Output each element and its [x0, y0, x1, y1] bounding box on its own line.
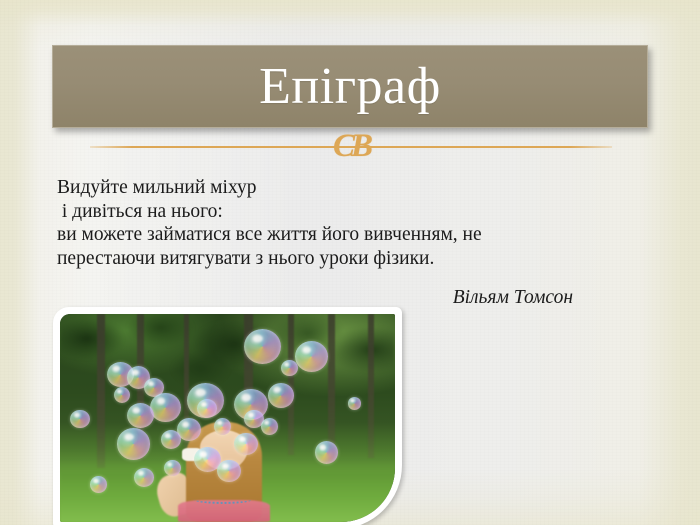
photo-tree-trunk: [328, 314, 335, 462]
photo-bubble: [134, 468, 154, 487]
slide: Епіграф CB Видуйте мильний міхур і дивіт…: [0, 0, 700, 525]
ornament-divider: CB: [90, 139, 612, 173]
photo-tree-trunk: [97, 314, 105, 468]
photo-bubble: [214, 418, 231, 435]
photo-bubble: [244, 329, 281, 364]
photo-bubble: [268, 383, 295, 408]
title-bar: Епіграф: [52, 45, 648, 128]
photo-bubble: [348, 397, 361, 409]
photo-bubble: [261, 418, 278, 435]
photo-bubble: [161, 430, 181, 449]
body-line: перестаючи витягувати з нього уроки фізи…: [57, 247, 637, 271]
photo-bubble: [217, 460, 240, 483]
photo-bubble: [177, 418, 200, 441]
photo-frame: [53, 307, 402, 525]
photo-bubble: [117, 428, 151, 459]
quote-attribution: Вільям Томсон: [57, 286, 573, 309]
body-line: Видуйте мильний міхур: [57, 176, 637, 200]
photo-bubble: [234, 433, 257, 456]
photo-bubble: [150, 393, 180, 422]
body-line: і дивіться на нього:: [57, 200, 637, 224]
photo-girl-necklace: [194, 495, 252, 504]
flourish-ornament-icon: CB: [333, 130, 369, 163]
photo-bubbles-girl: [60, 314, 395, 522]
photo-tree-trunk: [368, 314, 374, 458]
photo-bubble: [90, 476, 107, 493]
body-line: ви можете займатися все життя його вивче…: [57, 223, 637, 247]
body-text: Видуйте мильний міхур і дивіться на ньог…: [57, 176, 637, 270]
photo-bubble: [295, 341, 329, 372]
photo-bubble: [281, 360, 298, 377]
slide-title: Епіграф: [259, 61, 441, 113]
photo-bubble: [315, 441, 338, 464]
photo-bubble: [164, 460, 181, 477]
